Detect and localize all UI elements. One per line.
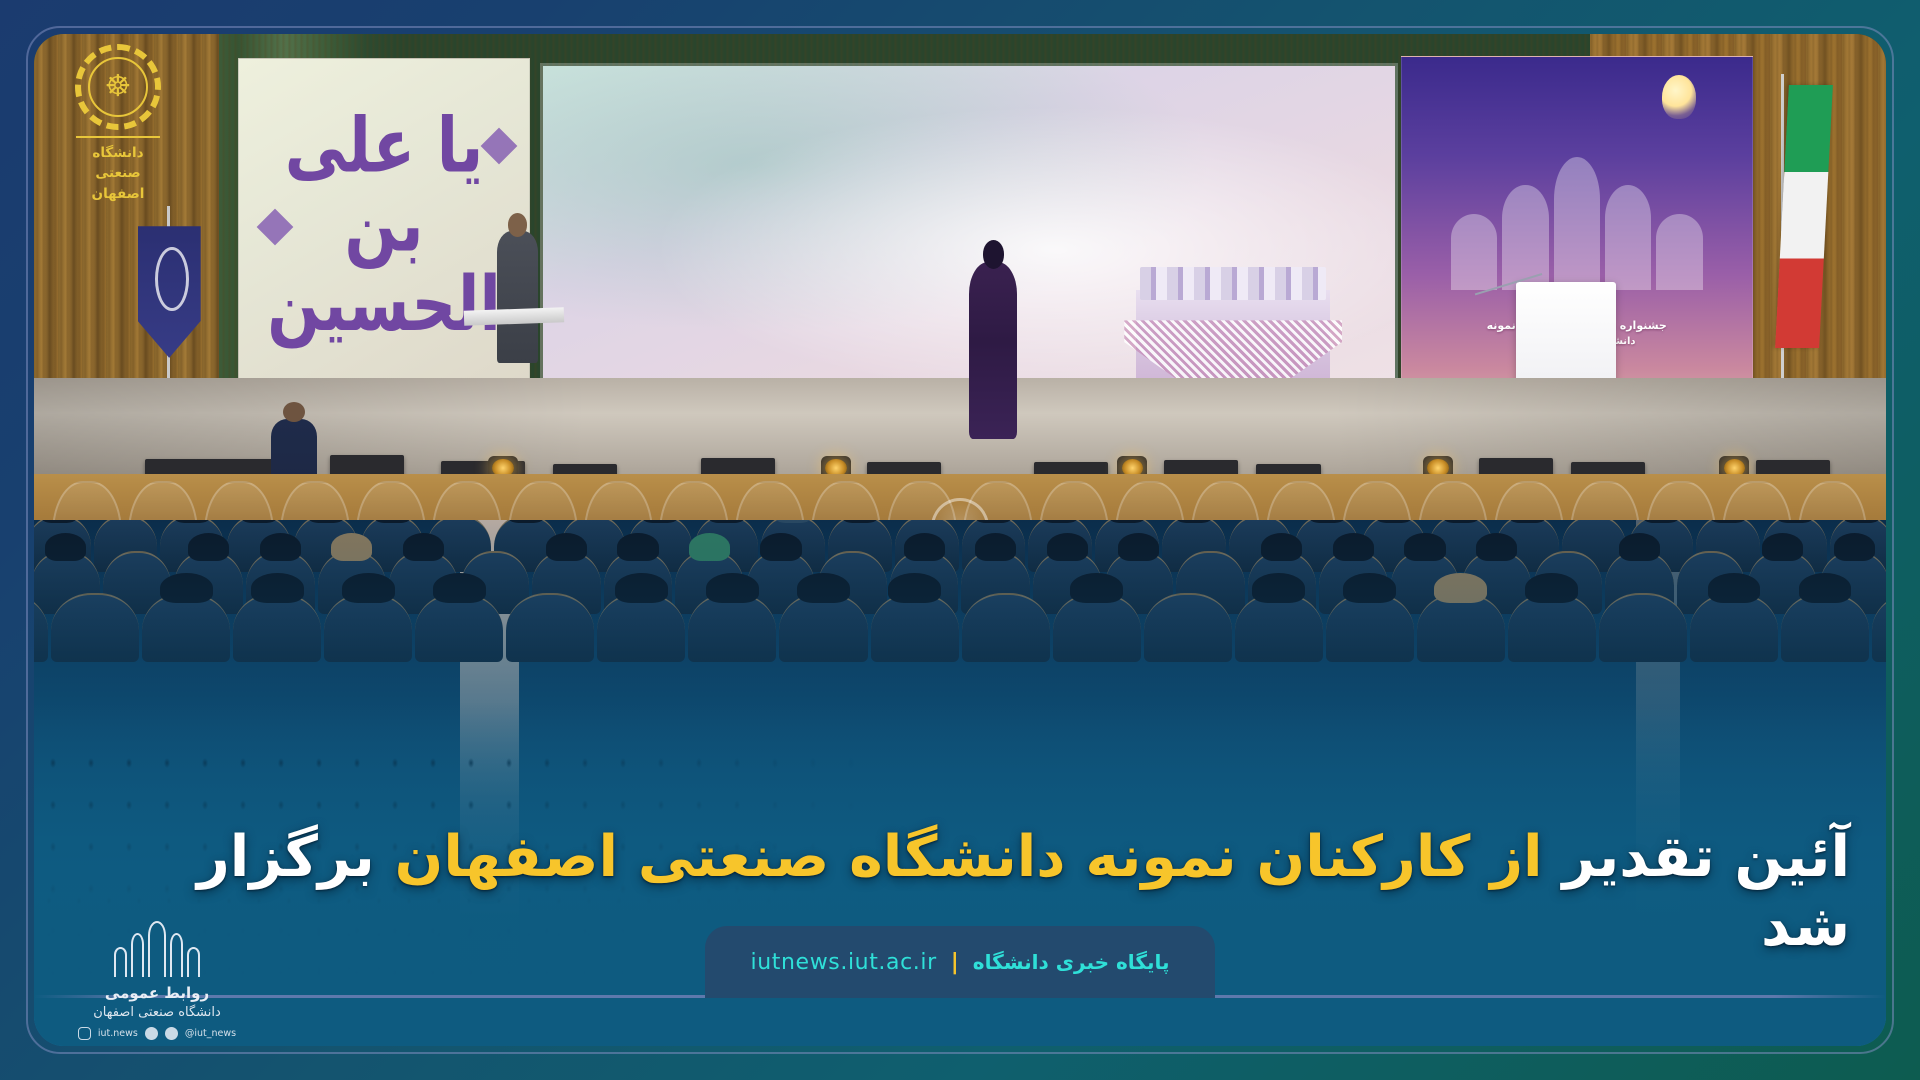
pr-title: روابط عمومی [62, 984, 252, 1002]
calligraphy-banner: یا علی بن الحسین [238, 58, 531, 397]
skyline-arches-icon [62, 919, 252, 977]
presenter-on-stage [969, 262, 1017, 439]
social-handles[interactable]: iut.news @iut_news [62, 1027, 252, 1040]
musician [497, 231, 538, 363]
award-gifts [1140, 267, 1327, 300]
whatsapp-icon[interactable] [165, 1027, 178, 1040]
university-name-line1: دانشگاه [60, 143, 176, 163]
telegram-icon[interactable] [145, 1027, 158, 1040]
telegram-handle[interactable]: @iut_news [185, 1028, 236, 1039]
calligraphy-text: یا علی بن الحسین [262, 60, 506, 389]
university-logo: ☸ دانشگاه صنعتی اصفهان [60, 44, 176, 204]
emblem-glyph: ☸ [105, 72, 132, 102]
instagram-handle[interactable]: iut.news [98, 1028, 138, 1039]
instagram-icon[interactable] [78, 1027, 91, 1040]
headline: آئین تقدیر از کارکنان نمونه دانشگاه صنعت… [170, 823, 1850, 962]
headline-lead: آئین تقدیر [1562, 824, 1850, 890]
pr-subtitle: دانشگاه صنعتی اصفهان [62, 1005, 252, 1020]
public-relations-logo: روابط عمومی دانشگاه صنعتی اصفهان iut.new… [62, 919, 252, 1040]
lightbulb-icon [1662, 75, 1696, 119]
iut-gear-emblem-icon: ☸ [75, 44, 161, 130]
university-logo-text: دانشگاه صنعتی اصفهان [60, 143, 176, 204]
headline-highlight: از کارکنان نمونه دانشگاه صنعتی اصفهان [395, 824, 1543, 890]
university-name-line3: اصفهان [60, 184, 176, 204]
news-card: یا علی بن الحسین جشنواره تجلیل از کارمند… [0, 0, 1920, 1080]
arches-graphic [1451, 149, 1703, 290]
logo-divider [76, 136, 160, 138]
university-name-line2: صنعتی [60, 163, 176, 183]
